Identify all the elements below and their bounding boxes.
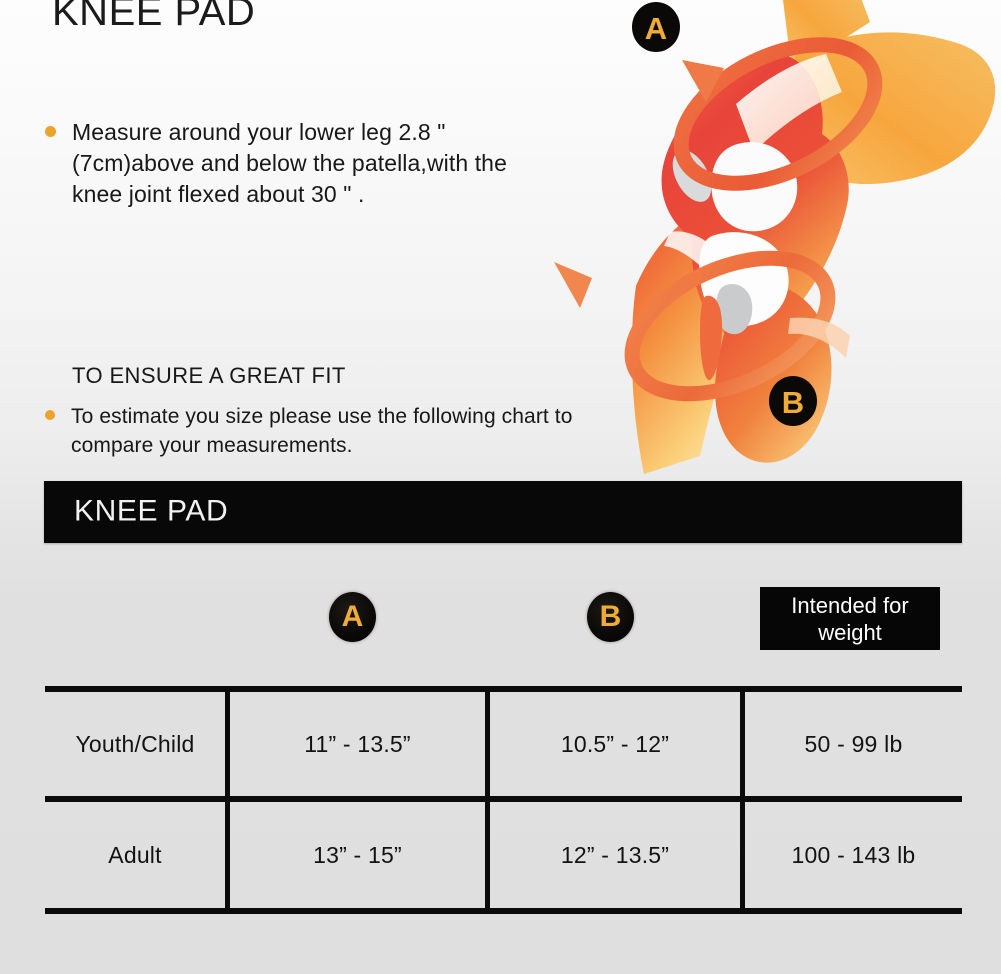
thigh-main-mass: [778, 32, 995, 184]
badge-b-illustration: B: [769, 376, 817, 426]
tibial-plateau-void: [699, 232, 788, 326]
chart-banner-label: KNEE PAD: [74, 494, 228, 528]
table-cell-adult-weight: 100 - 143 lb: [745, 802, 962, 908]
bone-void-small: [665, 144, 720, 208]
measure-band-upper: [659, 16, 897, 211]
bullet-dot-icon: [45, 126, 56, 137]
patella-shadow: [716, 284, 753, 334]
ligament-strand: [700, 296, 722, 380]
page-title: KNEE PAD: [52, 0, 255, 35]
size-chart-page: KNEE PAD Measure around your lower leg 2…: [0, 0, 1001, 974]
band-highlight: [788, 318, 850, 358]
estimate-instruction-text: To estimate you size please use the foll…: [71, 402, 585, 460]
table-cell-youth-weight: 50 - 99 lb: [745, 692, 962, 796]
column-header-badge-b: B: [587, 592, 634, 642]
table-cell-adult-a: 13” - 15”: [230, 802, 485, 908]
femoral-condyle-void: [711, 142, 797, 231]
table-row-label-youth: Youth/Child: [45, 692, 225, 796]
svg-text:A: A: [645, 11, 667, 46]
badge-a-illustration: A: [632, 2, 680, 52]
table-cell-adult-b: 12” - 13.5”: [490, 802, 740, 908]
size-table: Youth/Child 11” - 13.5” 10.5” - 12” 50 -…: [45, 686, 962, 914]
table-rule-bottom: [45, 908, 962, 914]
fit-subheading: TO ENSURE A GREAT FIT: [72, 363, 346, 389]
column-header-weight: Intended for weight: [760, 587, 940, 650]
chart-banner: KNEE PAD: [44, 481, 962, 543]
measure-arrow-lower: [554, 262, 592, 308]
femur-highlight: [736, 54, 842, 152]
knee-joint-mass: [662, 53, 849, 341]
calf-segment: [715, 284, 831, 463]
svg-text:B: B: [782, 385, 804, 420]
shin-segment: [632, 212, 754, 474]
thigh-upper-segment: [783, 0, 870, 72]
column-header-weight-label: Intended for weight: [760, 592, 940, 646]
measure-arrow-upper: [682, 60, 724, 102]
measure-instruction: Measure around your lower leg 2.8 " (7cm…: [45, 117, 515, 210]
table-row-label-adult: Adult: [45, 802, 225, 908]
knee-joint-anatomy-illustration: A B: [540, 0, 1001, 486]
column-header-badge-a: A: [329, 592, 376, 642]
table-cell-youth-a: 11” - 13.5”: [230, 692, 485, 796]
measure-band-lower: [554, 231, 850, 422]
bullet-dot-icon: [45, 410, 55, 420]
measure-instruction-text: Measure around your lower leg 2.8 " (7cm…: [72, 117, 515, 210]
joint-gap-highlight: [664, 231, 728, 286]
table-cell-youth-b: 10.5” - 12”: [490, 692, 740, 796]
estimate-instruction: To estimate you size please use the foll…: [45, 402, 585, 460]
